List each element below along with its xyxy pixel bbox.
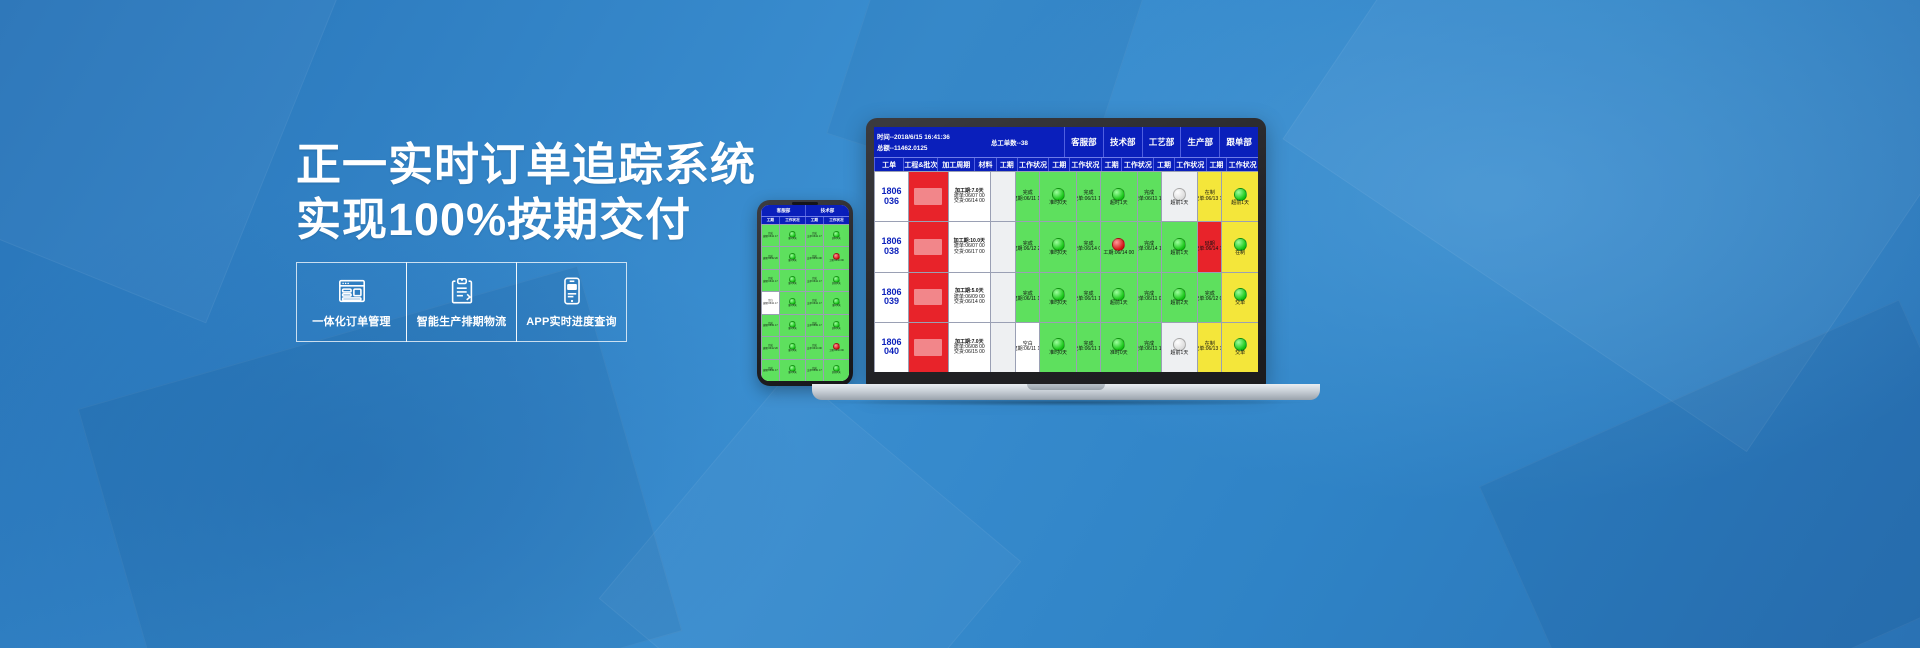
dashboard-order-count: 总工单数--38 [991,138,1061,147]
laptop-base [812,384,1320,400]
status-indicator-cell[interactable]: 准时0天 [779,246,805,268]
duration-cell[interactable]: 完成交单:06/12 09 [1197,272,1221,322]
feature-label: APP实时进度查询 [526,313,616,329]
order-number-cell[interactable]: 1806039 [874,272,908,322]
cycle-cell[interactable]: 加工期:7.0天建单:06/07 00交货:06/14 00 [948,171,991,221]
department-header-production: 生产部 [1180,127,1219,157]
duration-cell[interactable]: 空白建期:06/11 17 [761,291,779,313]
batch-redacted [914,239,942,256]
column-header: 工作状况 [1226,158,1258,171]
column-header: 工作状况 [779,217,805,224]
column-header: 工期 [996,158,1017,171]
feature-item-app-progress[interactable]: APP实时进度查询 [516,262,627,342]
cell-line: 准时0天 [788,238,797,241]
cycle-line: 交货:06/14 00 [954,199,985,204]
cell-line: 交单:06/11 17 [1137,197,1161,202]
cell-line: 准时0天 [788,260,797,263]
batch-cell[interactable] [908,171,948,221]
laptop-lid: 时间--2018/6/15 16:41:36 总额--11462.0125 总工… [866,118,1266,386]
column-header: 工期 [1048,158,1069,171]
cell-line: 工期:06/14 00 [1103,251,1134,256]
duration-cell[interactable]: 完成交单:06/11 17 [1076,322,1100,372]
dashboard-topbar: 时间--2018/6/15 16:41:36 总额--11462.0125 总工… [874,127,1258,157]
cell-line: 准时0天 [788,283,797,286]
status-indicator-cell[interactable]: 超前1天 [1161,221,1198,271]
status-indicator-cell[interactable]: 准时0天 [779,224,805,246]
duration-cell[interactable]: 完成建期:06/11 17 [1015,272,1039,322]
dashboard-meta: 时间--2018/6/15 16:41:36 总额--11462.0125 [874,127,988,157]
feature-item-order-management[interactable]: 一体化订单管理 [296,262,407,342]
duration-cell[interactable]: 完成交单:06/11 09 [1137,272,1161,322]
table-row[interactable]: 1806040加工期:7.0天建单:06/08 00交货:06/15 00空白建… [874,322,1258,372]
status-dot-red [1112,238,1125,251]
duration-cell[interactable]: 完成交单:06/11 17 [1076,272,1100,322]
department-header-customer-service: 客服部 [1064,127,1103,157]
cell-line: 建期:06/11 17 [763,325,778,328]
column-header: 工期 [1206,158,1227,171]
status-indicator-cell[interactable]: 准时0天 [1039,322,1076,372]
order-number-cell[interactable]: 1806038 [874,221,908,271]
duration-cell[interactable]: 完成建期:06/12 20 [761,336,779,358]
department-header-merchandising: 跟单部 [1219,127,1258,157]
status-indicator-cell[interactable]: 超前2天 [1161,272,1198,322]
status-indicator-cell[interactable]: 超前1天 [1221,171,1258,221]
status-indicator-cell[interactable]: 超前1天 [1161,322,1198,372]
duration-cell[interactable]: 完成交单:06/11 17 [1137,322,1161,372]
dashboard-laptop: 时间--2018/6/15 16:41:36 总额--11462.0125 总工… [874,127,1258,372]
duration-cell[interactable]: 完成建期:06/11 17 [1015,171,1039,221]
duration-cell[interactable]: 完成建期:06/12 20 [761,246,779,268]
feature-list: 一体化订单管理 智能生产排期物流 [296,262,627,342]
feature-label: 智能生产排期物流 [417,313,507,329]
cell-line: 建期:06/12 20 [763,258,778,261]
status-dot-green [1052,238,1065,251]
status-indicator-cell[interactable]: 交单 [1221,322,1258,372]
duration-cell[interactable]: 完成建期:06/11 17 [761,224,779,246]
cell-line: 超时1天 [1110,201,1128,206]
status-indicator-cell[interactable]: 准时0天 [779,314,805,336]
order-management-icon [337,276,367,306]
cycle-line: 交货:06/17 00 [954,250,985,255]
duration-cell[interactable]: 完成建期:06/12 20 [1015,221,1039,271]
cell-line: 准时0天 [788,328,797,331]
duration-cell[interactable]: 完成建期:06/11 17 [761,269,779,291]
duration-cell[interactable]: 完成交单:06/14 14 [1137,221,1161,271]
material-cell[interactable] [990,272,1015,322]
laptop-notch [1027,384,1105,390]
dashboard-amount: 总额--11462.0125 [877,143,985,152]
cell-line: 超前1天 [1171,201,1189,206]
cell-line: 建期:06/12 20 [763,348,778,351]
column-header-row: 工单工程&批次加工周期材料工期工作状况工期工作状况工期工作状况工期工作状况工期工… [874,157,1258,171]
column-header: 工期 [1153,158,1174,171]
cell-line: 准时0天 [788,305,797,308]
cell-line: 建期:06/11 17 [763,281,778,284]
cell-line: 交单:06/12 09 [1197,297,1221,302]
hero-headline-line2: 实现100%按期交付 [296,193,716,248]
phone-earpiece [792,202,818,205]
cycle-cell[interactable]: 加工期:7.0天建单:06/08 00交货:06/15 00 [948,322,991,372]
cell-line: 交单 [1235,301,1245,306]
order-number-cell[interactable]: 1806040 [874,322,908,372]
cycle-cell[interactable]: 加工期:5.0天建单:06/09 00交货:06/14 00 [948,272,991,322]
duration-cell[interactable]: 完成交单:06/11 17 [1076,171,1100,221]
cell-line: 准时0天 [1049,251,1067,256]
status-dot-yellow [1234,238,1247,251]
duration-cell[interactable]: 完成建期:06/11 17 [761,359,779,381]
department-header: 客服部 [761,205,805,216]
material-cell[interactable] [990,171,1015,221]
cell-line: 建期:06/12 20 [1015,247,1039,252]
cell-line: 交单 [1235,351,1245,356]
dashboard-order-count-wrap: 总工单数--38 [988,127,1064,157]
table-row[interactable]: 1806036加工期:7.0天建单:06/07 00交货:06/14 00完成建… [874,171,1258,221]
department-header-process: 工艺部 [1142,127,1181,157]
status-indicator-cell[interactable]: 准时0天 [779,336,805,358]
status-dot-green [1052,188,1065,201]
cell-line: 交单:06/11 17 [1076,197,1100,202]
department-header-row: 客服部 技术部 工艺部 生产部 跟单部 [1064,127,1258,157]
column-header: 工期 [1101,158,1122,171]
status-indicator-cell[interactable]: 准时0天 [1100,322,1137,372]
status-dot-white [1173,188,1186,201]
cell-line: 交单:06/14 16 [1197,247,1221,252]
status-indicator-cell[interactable]: 超前1天 [1161,171,1198,221]
cell-line: 准时0天 [788,372,797,375]
mobile-app-icon [557,276,587,306]
status-indicator-cell[interactable]: 准时0天 [1039,221,1076,271]
dashboard-time: 时间--2018/6/15 16:41:36 [877,132,985,141]
cycle-cell[interactable]: 加工期:10.0天建单:06/07 00交货:06/17 00 [948,221,991,271]
table-row[interactable]: 1806039加工期:5.0天建单:06/09 00交货:06/14 00完成建… [874,272,1258,322]
cell-line: 建期:06/11 17 [763,370,778,373]
cell-line: 超前1天 [1171,351,1189,356]
status-indicator-cell[interactable]: 超前1天 [1100,272,1137,322]
laptop-mockup: 时间--2018/6/15 16:41:36 总额--11462.0125 总工… [812,118,1320,418]
material-cell[interactable] [990,322,1015,372]
cell-line: 交单:06/13 17 [1197,347,1221,352]
material-cell[interactable] [990,221,1015,271]
column-header: 工期 [761,217,779,224]
cell-line: 准时0天 [1110,351,1128,356]
column-header: 工作状况 [1121,158,1153,171]
cell-line: 交单:06/11 17 [1137,347,1161,352]
status-indicator-cell[interactable]: 准时0天 [779,291,805,313]
cell-line: 在制 [1235,251,1245,256]
status-indicator-cell[interactable]: 超时1天 [1100,171,1137,221]
cell-line: 超前2天 [1171,301,1189,306]
batch-cell[interactable] [908,221,948,271]
duration-cell[interactable]: 空白建期:06/11 17 [1015,322,1039,372]
duration-cell[interactable]: 完成交单:06/11 17 [1137,171,1161,221]
cell-line: 交单:06/11 09 [1137,297,1161,302]
status-indicator-cell[interactable]: 交单 [1221,272,1258,322]
duration-cell[interactable]: 在制交单:06/13 13 [1197,171,1221,221]
status-dot-yellow [1234,188,1247,201]
hero-banner: 正一实时订单追踪系统 实现100%按期交付 一体化订单管理 [0,0,1920,648]
batch-cell[interactable] [908,272,948,322]
clipboard-schedule-icon [447,276,477,306]
status-indicator-cell[interactable]: 准时0天 [1039,272,1076,322]
status-indicator-cell[interactable]: 工期:06/14 00 [1100,221,1137,271]
cell-line: 建期:06/11 17 [1015,347,1039,352]
cell-line: 建期:06/11 17 [763,303,778,306]
hero-headline-line1: 正一实时订单追踪系统 [296,138,716,193]
cell-line: 交单:06/14 14 [1137,247,1161,252]
cell-line: 准时0天 [1049,201,1067,206]
batch-redacted [914,188,942,205]
cell-line: 建期:06/11 17 [1015,197,1039,202]
feature-item-smart-scheduling[interactable]: 智能生产排期物流 [406,262,517,342]
cell-line: 准时0天 [1049,351,1067,356]
status-dot-green [1112,188,1125,201]
column-header: 加工周期 [937,158,974,171]
dashboard-rows[interactable]: 1806036加工期:7.0天建单:06/07 00交货:06/14 00完成建… [874,171,1258,372]
cell-line: 超前1天 [1171,251,1189,256]
batch-redacted [914,289,942,306]
status-indicator-cell[interactable]: 准时0天 [1039,171,1076,221]
column-header: 工作状况 [1174,158,1206,171]
duration-cell[interactable]: 完成交单:06/14 00 [1076,221,1100,271]
cell-line: 超前1天 [1231,201,1249,206]
cell-line: 交单:06/11 17 [1076,297,1100,302]
cell-line: 建期:06/11 17 [763,236,778,239]
laptop-shadow [826,399,1306,406]
column-header: 工作状况 [1069,158,1101,171]
batch-redacted [914,339,942,356]
order-number-cell[interactable]: 1806036 [874,171,908,221]
duration-cell[interactable]: 完成建期:06/11 17 [761,314,779,336]
column-header: 材料 [974,158,996,171]
cell-line: 准时0天 [788,350,797,353]
column-header: 工单 [874,158,903,171]
column-header: 工程&批次 [903,158,937,171]
batch-cell[interactable] [908,322,948,372]
status-dot-green [1173,238,1186,251]
cell-line: 交单:06/13 13 [1197,197,1221,202]
cell-line: 超前1天 [1110,301,1128,306]
cycle-line: 交货:06/15 00 [954,350,985,355]
hero-text-block: 正一实时订单追踪系统 实现100%按期交付 [296,138,716,248]
cycle-line: 交货:06/14 00 [954,300,985,305]
status-indicator-cell[interactable]: 准时0天 [779,269,805,291]
department-header-technical: 技术部 [1103,127,1142,157]
column-header: 工作状况 [1017,158,1049,171]
duration-cell[interactable]: 在制交单:06/13 17 [1197,322,1221,372]
status-indicator-cell[interactable]: 在制 [1221,221,1258,271]
status-indicator-cell[interactable]: 准时0天 [779,359,805,381]
cell-line: 建期:06/11 17 [1015,297,1039,302]
cell-line: 准时0天 [1049,301,1067,306]
laptop-screen[interactable]: 时间--2018/6/15 16:41:36 总额--11462.0125 总工… [874,127,1258,372]
feature-label: 一体化订单管理 [312,313,390,329]
cell-line: 交单:06/11 17 [1076,347,1100,352]
cell-line: 交单:06/14 00 [1076,247,1100,252]
duration-cell[interactable]: 延期交单:06/14 16 [1197,221,1221,271]
table-row[interactable]: 1806038加工期:10.0天建单:06/07 00交货:06/17 00完成… [874,221,1258,271]
